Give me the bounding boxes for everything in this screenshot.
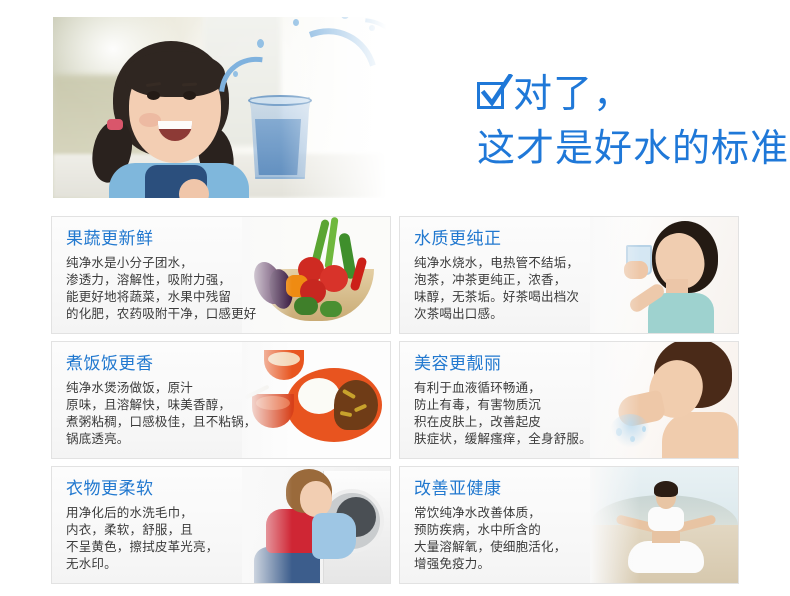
stirfry-strip xyxy=(340,411,353,417)
card-text-block: 水质更纯正 纯净水烧水，电热管不结垢， 泡茶，冲茶更纯正，浓香， 味醇，无茶垢。… xyxy=(414,228,626,322)
card-body-line: 纯净水煲汤做饭，原汁 xyxy=(66,379,278,396)
card-body-line: 的化肥，农药吸附干净，口感更好 xyxy=(66,305,278,322)
girl-teeth xyxy=(158,121,192,129)
benefit-card[interactable]: 果蔬更新鲜 纯净水是小分子团水， 渗透力，溶解性，吸附力强， 能更好地将蔬菜，水… xyxy=(51,216,391,334)
card-body-line: 肤症状，缓解瘙痒，全身舒服。 xyxy=(414,430,626,447)
woman-face xyxy=(300,481,332,517)
card-text-block: 改善亚健康 常饮纯净水改善体质， 预防疾病，水中所含的 大量溶解氧，使细胞活化，… xyxy=(414,478,626,572)
splash-droplet xyxy=(257,39,264,48)
card-body-line: 煮粥粘稠，口感极佳，且不粘锅， xyxy=(66,413,278,430)
woman-top xyxy=(648,293,714,334)
benefit-card[interactable]: 美容更靓丽 有利于血液循环畅通， 防止有毒，有害物质沉 积在皮肤上，改善起皮 肤… xyxy=(399,341,739,459)
headline-line-1: 对了， xyxy=(477,72,790,118)
card-body: 常饮纯净水改善体质， 预防疾病，水中所含的 大量溶解氧，使细胞活化， 增强免疫力… xyxy=(414,504,626,572)
card-body-line: 纯净水是小分子团水， xyxy=(66,254,278,271)
girl-hair-tie xyxy=(107,119,123,130)
girl-eye-right xyxy=(183,91,196,100)
card-title: 美容更靓丽 xyxy=(414,353,626,375)
card-title: 水质更纯正 xyxy=(414,228,626,250)
stirfry-strip xyxy=(354,404,368,413)
card-body-line: 积在皮肤上，改善起皮 xyxy=(414,413,626,430)
card-body-line: 用净化后的水洗毛巾， xyxy=(66,504,278,521)
card-body-line: 增强免疫力。 xyxy=(414,555,626,572)
stir-fry-dish xyxy=(334,380,378,430)
stirfry-strip xyxy=(342,389,356,399)
card-title: 改善亚健康 xyxy=(414,478,626,500)
card-body-line: 不呈黄色，擦拭皮革光亮， xyxy=(66,538,278,555)
water-droplet xyxy=(642,426,646,432)
card-text-block: 美容更靓丽 有利于血液循环畅通， 防止有毒，有害物质沉 积在皮肤上，改善起皮 肤… xyxy=(414,353,626,447)
benefit-card[interactable]: 改善亚健康 常饮纯净水改善体质， 预防疾病，水中所含的 大量溶解氧，使细胞活化，… xyxy=(399,466,739,584)
blue-towel xyxy=(312,513,356,559)
card-body-line: 防止有毒，有害物质沉 xyxy=(414,396,626,413)
broccoli xyxy=(320,301,342,317)
card-text-block: 果蔬更新鲜 纯净水是小分子团水， 渗透力，溶解性，吸附力强， 能更好地将蔬菜，水… xyxy=(66,228,278,322)
card-body-line: 泡茶，冲茶更纯正，浓香， xyxy=(414,271,626,288)
card-body-line: 预防疾病，水中所含的 xyxy=(414,521,626,538)
card-body: 纯净水烧水，电热管不结垢， 泡茶，冲茶更纯正，浓香， 味醇，无茶垢。好茶喝出档次… xyxy=(414,254,626,322)
benefit-card[interactable]: 水质更纯正 纯净水烧水，电热管不结垢， 泡茶，冲茶更纯正，浓香， 味醇，无茶垢。… xyxy=(399,216,739,334)
card-body-line: 常饮纯净水改善体质， xyxy=(414,504,626,521)
card-body-line: 纯净水烧水，电热管不结垢， xyxy=(414,254,626,271)
card-text-block: 煮饭饭更香 纯净水煲汤做饭，原汁 原味，且溶解快，味美香醇， 煮粥粘稠，口感极佳… xyxy=(66,353,278,447)
card-body: 有利于血液循环畅通， 防止有毒，有害物质沉 积在皮肤上，改善起皮 肤症状，缓解瘙… xyxy=(414,379,626,447)
card-title: 煮饭饭更香 xyxy=(66,353,278,375)
headline-text-secondary: 这才是好水的标准 xyxy=(477,126,790,170)
card-body-line: 锅底透亮。 xyxy=(66,430,278,447)
card-title: 衣物更柔软 xyxy=(66,478,278,500)
checkbox-tick xyxy=(479,74,513,110)
hero-photo-fade xyxy=(281,17,401,198)
woman-white-top xyxy=(648,507,684,531)
card-body-line: 原味，且溶解快，味美香醇， xyxy=(66,396,278,413)
girl-eye-left xyxy=(147,91,160,100)
card-body-line: 渗透力，溶解性，吸附力强， xyxy=(66,271,278,288)
card-body: 用净化后的水洗毛巾， 内衣，柔软，舒服，且 不呈黄色，擦拭皮革光亮， 无水印。 xyxy=(66,504,278,572)
card-body-line: 味醇，无茶垢。好茶喝出档次 xyxy=(414,288,626,305)
benefit-card-grid: 果蔬更新鲜 纯净水是小分子团水， 渗透力，溶解性，吸附力强， 能更好地将蔬菜，水… xyxy=(51,216,739,584)
woman-shoulder xyxy=(662,412,738,459)
card-body-line: 次茶喝出口感。 xyxy=(414,305,626,322)
card-title: 果蔬更新鲜 xyxy=(66,228,278,250)
card-body: 纯净水煲汤做饭，原汁 原味，且溶解快，味美香醇， 煮粥粘稠，口感极佳，且不粘锅，… xyxy=(66,379,278,447)
woman-hair xyxy=(654,481,678,497)
headline-text-primary: 对了， xyxy=(513,73,633,117)
hero-headline: 对了， 这才是好水的标准 xyxy=(477,72,790,170)
card-text-block: 衣物更柔软 用净化后的水洗毛巾， 内衣，柔软，舒服，且 不呈黄色，擦拭皮革光亮，… xyxy=(66,478,278,572)
card-body-line: 有利于血液循环畅通， xyxy=(414,379,626,396)
benefit-card[interactable]: 衣物更柔软 用净化后的水洗毛巾， 内衣，柔软，舒服，且 不呈黄色，擦拭皮革光亮，… xyxy=(51,466,391,584)
hero-banner: 对了， 这才是好水的标准 xyxy=(53,17,790,198)
broccoli xyxy=(294,297,318,315)
benefit-card[interactable]: 煮饭饭更香 纯净水煲汤做饭，原汁 原味，且溶解快，味美香醇， 煮粥粘稠，口感极佳… xyxy=(51,341,391,459)
girl-fringe xyxy=(125,51,225,97)
card-body-line: 内衣，柔软，舒服，且 xyxy=(66,521,278,538)
card-body: 纯净水是小分子团水， 渗透力，溶解性，吸附力强， 能更好地将蔬菜，水果中残留 的… xyxy=(66,254,278,322)
hero-photo-girl-with-water-glass xyxy=(53,17,401,198)
card-body-line: 大量溶解氧，使细胞活化， xyxy=(414,538,626,555)
splash-droplet xyxy=(233,71,238,77)
checkbox-checked-icon xyxy=(477,78,511,112)
card-body-line: 无水印。 xyxy=(66,555,278,572)
card-body-line: 能更好地将蔬菜，水果中残留 xyxy=(66,288,278,305)
